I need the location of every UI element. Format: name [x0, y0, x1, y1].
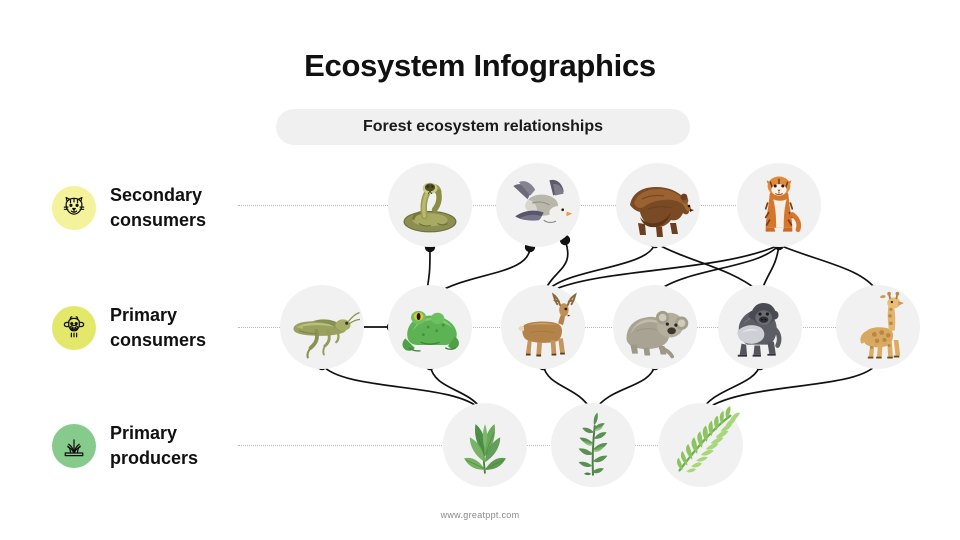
tiger-face-icon	[52, 186, 96, 230]
subtitle-pill: Forest ecosystem relationships	[276, 109, 690, 145]
infographic-canvas: Ecosystem Infographics Forest ecosystem …	[0, 0, 960, 540]
node-bear[interactable]	[616, 163, 700, 247]
eagle-illustration	[500, 167, 576, 243]
legend-item-primary-producers[interactable]: Primary producers	[52, 421, 198, 471]
legend-label: Primary consumers	[110, 303, 206, 353]
snake-illustration	[393, 168, 467, 242]
herb-sprig-illustration	[557, 409, 629, 481]
node-fern-frond[interactable]	[659, 403, 743, 487]
bear-illustration	[618, 165, 698, 245]
legend-item-secondary-consumers[interactable]: Secondary consumers	[52, 183, 206, 233]
koala-illustration	[617, 289, 693, 365]
legend-label-line1: Secondary	[110, 183, 206, 208]
tiger-illustration	[741, 167, 817, 243]
footer-url: www.greatppt.com	[0, 510, 960, 520]
legend-label-line2: consumers	[110, 208, 206, 233]
node-koala[interactable]	[613, 285, 697, 369]
node-grasshopper[interactable]	[280, 285, 364, 369]
legend-label-line1: Primary	[110, 303, 206, 328]
grasshopper-illustration	[284, 289, 360, 365]
legend-label-line1: Primary	[110, 421, 198, 446]
node-tiger[interactable]	[737, 163, 821, 247]
deer-illustration	[505, 289, 581, 365]
legend-label-line2: producers	[110, 446, 198, 471]
fern-frond-illustration	[662, 406, 740, 484]
page-title: Ecosystem Infographics	[0, 48, 960, 84]
legend-label: Primary producers	[110, 421, 198, 471]
broadleaf-plant-illustration	[447, 407, 523, 483]
node-gorilla[interactable]	[718, 285, 802, 369]
subtitle-text: Forest ecosystem relationships	[363, 118, 603, 136]
giraffe-illustration	[841, 290, 915, 364]
node-frog[interactable]	[388, 285, 472, 369]
node-deer[interactable]	[501, 285, 585, 369]
cow-face-icon	[52, 306, 96, 350]
node-broadleaf-plant[interactable]	[443, 403, 527, 487]
legend-label-line2: consumers	[110, 328, 206, 353]
gorilla-illustration	[723, 290, 797, 364]
legend-label: Secondary consumers	[110, 183, 206, 233]
node-herb-sprig[interactable]	[551, 403, 635, 487]
frog-illustration	[392, 289, 468, 365]
node-snake[interactable]	[388, 163, 472, 247]
node-giraffe[interactable]	[836, 285, 920, 369]
legend-item-primary-consumers[interactable]: Primary consumers	[52, 303, 206, 353]
grass-icon	[52, 424, 96, 468]
node-eagle[interactable]	[496, 163, 580, 247]
